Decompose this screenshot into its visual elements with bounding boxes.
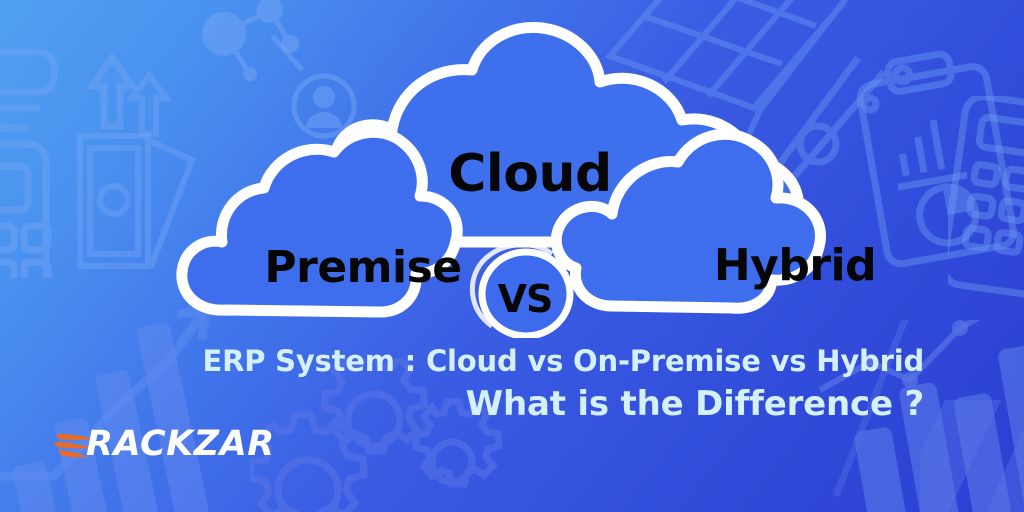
cloud-label-hybrid: Hybrid (660, 244, 930, 288)
brand-logo-text: RACKZAR (86, 427, 275, 462)
cloud-label-cloud: Cloud (160, 148, 900, 200)
versus-badge-label: VS (475, 280, 575, 318)
headline-primary: ERP System : Cloud vs On-Premise vs Hybr… (64, 344, 924, 378)
brand-logo[interactable]: RACKZAR (54, 422, 275, 466)
headline-block: ERP System : Cloud vs On-Premise vs Hybr… (64, 344, 924, 424)
erp-comparison-banner: Cloud Premise Hybrid VS ERP System : Clo… (0, 0, 1024, 512)
calculator-icon (948, 96, 1024, 306)
cloud-diagram: Cloud Premise Hybrid VS (160, 18, 900, 338)
headline-secondary: What is the Difference ? (64, 384, 924, 424)
cloud-label-premise: Premise (228, 246, 498, 290)
diagonal-accent-shape (920, 400, 1024, 512)
